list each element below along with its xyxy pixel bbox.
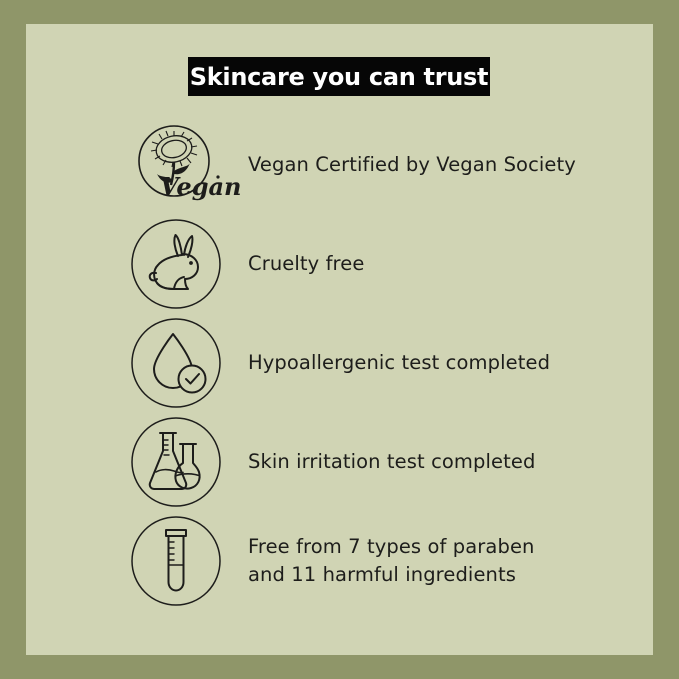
vegan-wordmark: Vegan: [160, 172, 241, 201]
list-item-vegan-certified: Vegan Vegan Certified by Vegan Society: [26, 115, 653, 214]
infographic-card: Skincare you can trust: [26, 24, 653, 655]
list-item-cruelty-free: Cruelty free: [26, 214, 653, 313]
trust-list: Vegan Vegan Certified by Vegan Society: [26, 115, 653, 610]
label-line: Hypoallergenic test completed: [248, 353, 648, 373]
label-line: and 11 harmful ingredients: [248, 565, 648, 585]
list-item-hypoallergenic: Hypoallergenic test completed: [26, 313, 653, 412]
list-item-label: Vegan Certified by Vegan Society: [248, 155, 648, 175]
lab-flasks-icon: [130, 416, 222, 508]
list-item-label: Skin irritation test completed: [248, 452, 648, 472]
list-item-label: Hypoallergenic test completed: [248, 353, 648, 373]
label-line: Free from 7 types of paraben: [248, 537, 648, 557]
title-banner: Skincare you can trust: [188, 57, 490, 96]
list-item-paraben-free: Free from 7 types of paraben and 11 harm…: [26, 511, 653, 610]
list-item-label: Free from 7 types of paraben and 11 harm…: [248, 537, 648, 584]
page-title: Skincare you can trust: [190, 65, 488, 89]
list-item-label: Cruelty free: [248, 254, 648, 274]
label-line: Skin irritation test completed: [248, 452, 648, 472]
rabbit-icon: [130, 218, 222, 310]
label-line: Cruelty free: [248, 254, 648, 274]
label-line: Vegan Certified by Vegan Society: [248, 155, 648, 175]
list-item-skin-irritation: Skin irritation test completed: [26, 412, 653, 511]
test-tube-icon: [130, 515, 222, 607]
vegan-society-sunflower-logo: Vegan: [130, 119, 222, 211]
water-drop-check-icon: [130, 317, 222, 409]
